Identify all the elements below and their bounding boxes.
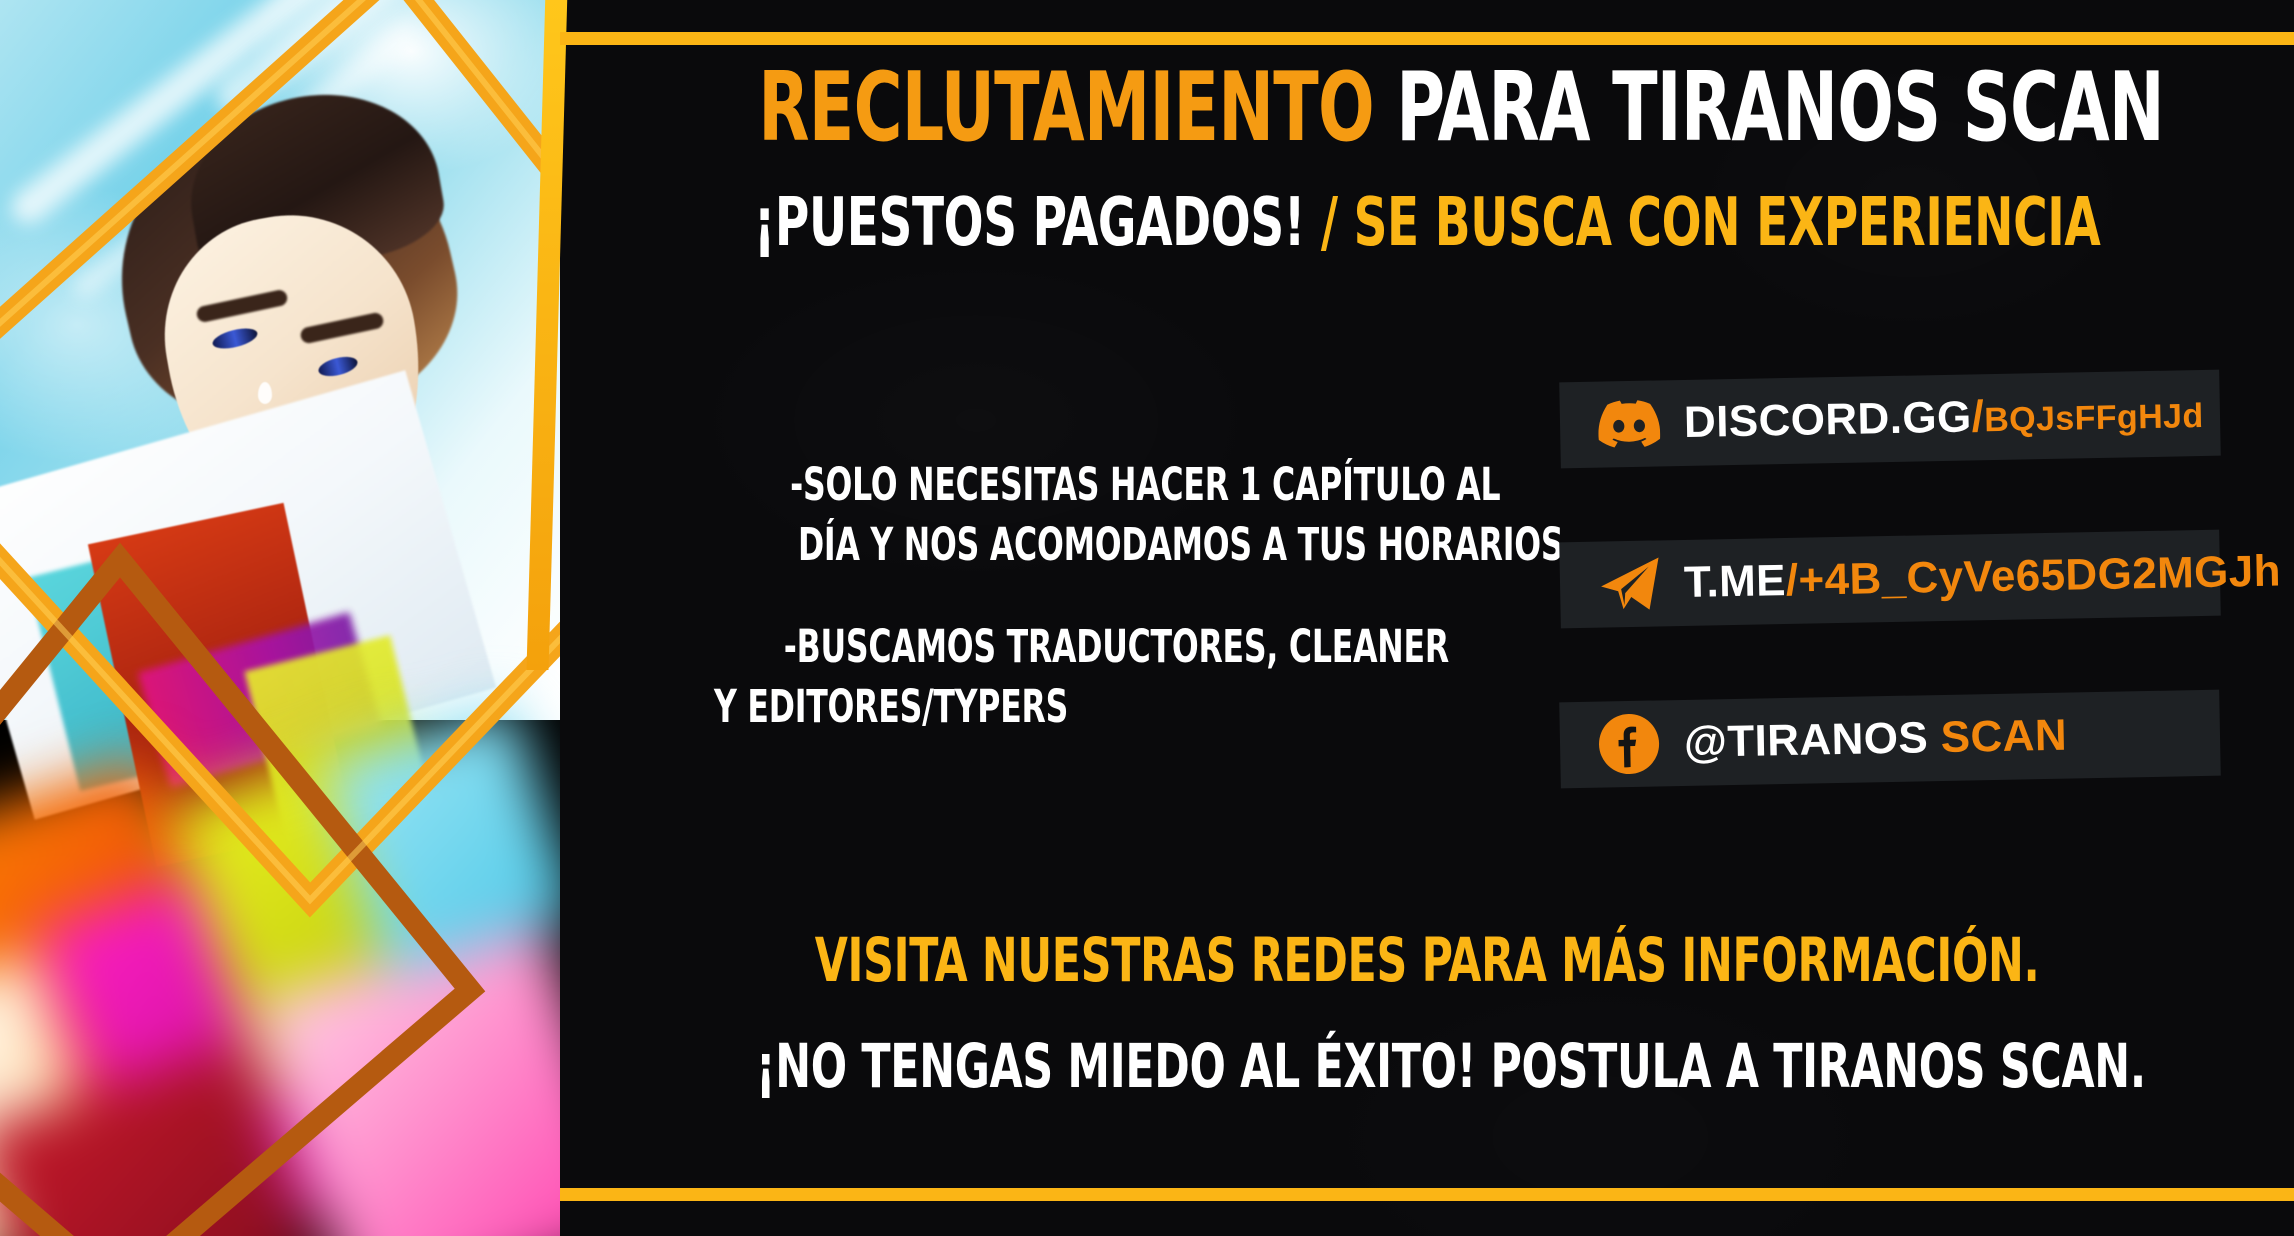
cta-line-1-wrap: VISITA NUESTRAS REDES PARA MÁS INFORMACI…	[560, 925, 2294, 997]
contact-card-telegram[interactable]: T.ME/+4B_CyVe65DG2MGJh	[1559, 530, 2221, 629]
contact-card-discord[interactable]: DISCORD.GG/BQJsFFgHJd	[1559, 370, 2221, 469]
title-rest: PARA TIRANOS SCAN	[1396, 53, 2164, 163]
cta-line-2-wrap: ¡NO TENGAS MIEDO AL ÉXITO! POSTULA A TIR…	[560, 1031, 2294, 1103]
sweat-drop-icon	[258, 382, 272, 404]
list-item: Y EDITORES/TYPERS	[690, 677, 1530, 737]
subtitle-experience: / SE BUSCA CON EXPERIENCIA	[1321, 183, 2101, 261]
prismatic-blur-zone	[0, 740, 640, 1236]
list-spacer	[690, 575, 1530, 617]
discord-separator: /	[1971, 392, 1985, 441]
bullet-2-line-2: Y EDITORES/TYPERS	[714, 677, 1068, 737]
discord-domain: DISCORD.GG	[1684, 392, 1972, 447]
bullet-2-line-1: -BUSCAMOS TRADUCTORES, CLEANER	[784, 617, 1449, 677]
facebook-icon	[1595, 712, 1662, 775]
telegram-code: +4B_CyVe65DG2MGJh	[1798, 546, 2281, 604]
facebook-link-text: @TIRANOS SCAN	[1684, 711, 2068, 768]
telegram-domain: T.ME	[1684, 556, 1787, 607]
discord-link-text: DISCORD.GG/BQJsFFgHJd	[1684, 388, 2204, 448]
title-highlight: RECLUTAMIENTO	[758, 53, 1396, 163]
cta-line-2: ¡NO TENGAS MIEDO AL ÉXITO! POSTULA A TIR…	[756, 1031, 2146, 1103]
recruitment-banner: RECLUTAMIENTO PARA TIRANOS SCAN ¡PUESTOS…	[0, 0, 2294, 1236]
gold-bottom-rule	[560, 1188, 2294, 1201]
list-item: DÍA Y NOS ACOMODAMOS A TUS HORARIOS	[690, 515, 1530, 575]
list-item: -BUSCAMOS TRADUCTORES, CLEANER	[690, 617, 1530, 677]
call-to-action: VISITA NUESTRAS REDES PARA MÁS INFORMACI…	[560, 925, 2294, 1103]
facebook-handle: @TIRANOS	[1684, 713, 1929, 767]
gold-top-rule	[560, 32, 2294, 45]
facebook-name: SCAN	[1940, 711, 2067, 762]
discord-code: BQJsFFgHJd	[1984, 397, 2204, 439]
telegram-icon	[1596, 555, 1663, 612]
bullet-1-line-1: -SOLO NECESITAS HACER 1 CAPÍTULO AL	[790, 455, 1500, 515]
discord-icon	[1596, 399, 1663, 448]
contact-cards: DISCORD.GG/BQJsFFgHJd T.ME/+4B_CyVe65DG2…	[1560, 376, 2220, 856]
list-item: -SOLO NECESITAS HACER 1 CAPÍTULO AL	[690, 455, 1530, 515]
page-subtitle: ¡PUESTOS PAGADOS! / SE BUSCA CON EXPERIE…	[560, 188, 2294, 257]
bullet-1-line-2: DÍA Y NOS ACOMODAMOS A TUS HORARIOS	[798, 515, 1563, 575]
telegram-link-text: T.ME/+4B_CyVe65DG2MGJh	[1684, 546, 2282, 607]
page-title: RECLUTAMIENTO PARA TIRANOS SCAN	[560, 60, 2294, 157]
contact-card-facebook[interactable]: @TIRANOS SCAN	[1559, 690, 2221, 789]
facebook-separator	[1928, 713, 1942, 762]
cta-line-1: VISITA NUESTRAS REDES PARA MÁS INFORMACI…	[815, 925, 2040, 997]
subtitle-paid: ¡PUESTOS PAGADOS!	[754, 183, 1321, 261]
requirements-list: -SOLO NECESITAS HACER 1 CAPÍTULO AL DÍA …	[690, 455, 1530, 736]
